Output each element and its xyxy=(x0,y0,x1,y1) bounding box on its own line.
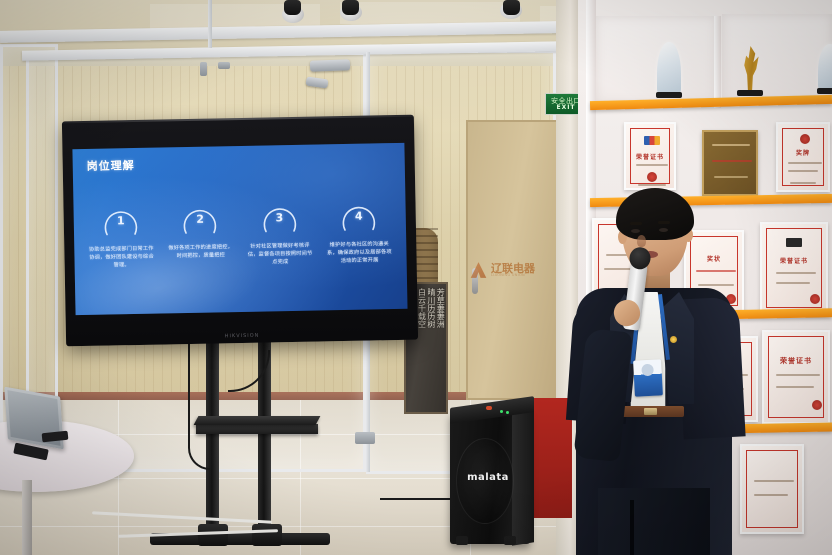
door-lock[interactable] xyxy=(218,62,230,69)
presenter-eyebrow xyxy=(658,221,670,224)
tv-screen: 岗位理解 1 协助总监完成部门日常工作协调，做好团队建设与综合管理。 xyxy=(72,143,407,315)
step-text: 维护好与各社区的沟通关系，确保政府以及居部各项活动的正常开展 xyxy=(325,240,393,265)
step-number: 4 xyxy=(355,209,363,222)
certificate-logo-icon xyxy=(644,136,660,145)
certificate-title: 奖状 xyxy=(686,254,742,263)
certificate-title: 荣誉证书 xyxy=(764,356,828,366)
portable-speaker: malata xyxy=(450,412,530,544)
step-text: 做好各项工作的进度把控，时间把控，质量把控 xyxy=(167,243,235,260)
award-plaque xyxy=(702,130,758,196)
television: 岗位理解 1 协助总监完成部门日常工作协调，做好团队建设与综合管理。 xyxy=(62,115,418,347)
trophy-base xyxy=(817,88,832,94)
step-text: 针对社区管理做好考核评估，监督各项目按照时间节点完成 xyxy=(246,242,314,267)
calligraphy-column: 晴川历历树 xyxy=(427,288,435,408)
power-cable xyxy=(188,340,210,470)
shelf-divider xyxy=(714,16,721,108)
speaker-knob[interactable] xyxy=(486,406,492,410)
step-ring-icon: 3 xyxy=(257,197,302,238)
lapel-pin-icon xyxy=(670,336,677,343)
speaker-wheel xyxy=(456,536,468,545)
calligraphy-column: 芳草萋萋洲 xyxy=(436,288,444,408)
certificate-title: 荣誉证书 xyxy=(762,256,826,265)
step-ring-icon: 4 xyxy=(336,195,381,236)
presenter-eye xyxy=(631,229,640,233)
certificate-plaque: 奖牌 xyxy=(776,122,830,192)
presenter-eye xyxy=(659,228,668,232)
crystal-trophy xyxy=(657,42,681,94)
step-ring-icon: 2 xyxy=(178,198,223,239)
step-ring-icon: 1 xyxy=(98,200,143,241)
door-closer-arm xyxy=(310,59,350,71)
certificate-plaque: 荣誉证书 xyxy=(762,330,830,424)
brand-name-en: LIAONING UNION xyxy=(491,274,535,278)
tv-stand-foot xyxy=(198,524,228,546)
table-leg xyxy=(22,480,32,555)
tv-brand-label: HIKVISION xyxy=(225,333,260,340)
certificate-title: 荣誉证书 xyxy=(626,152,674,161)
calligraphy-column: 白云千载空 xyxy=(417,288,425,408)
photo-scene: 安全出口 EXIT 辽联电器 LIAONING UNION 上年黄鹤楼 白云千载… xyxy=(0,0,832,555)
slide-step: 2 做好各项工作的进度把控，时间把控，质量把控 xyxy=(165,198,236,269)
step-number: 1 xyxy=(117,214,125,227)
belt-buckle xyxy=(644,408,657,415)
speaker-led xyxy=(500,410,503,413)
certificate-plaque xyxy=(740,444,804,534)
trophy-base xyxy=(737,90,763,96)
speaker-led xyxy=(506,411,509,414)
belt xyxy=(620,406,684,417)
id-badge xyxy=(633,359,663,396)
slide-step: 1 协助总监完成部门日常工作协调，做好团队建设与综合管理。 xyxy=(85,200,156,271)
speaker-wheel xyxy=(504,536,516,545)
step-number: 2 xyxy=(196,212,204,225)
wall-brand-logo: 辽联电器 LIAONING UNION xyxy=(470,258,552,282)
brand-mark-icon xyxy=(470,262,487,279)
exit-sign-label-en: EXIT xyxy=(556,105,575,111)
door-floor-hinge xyxy=(355,432,375,444)
slide-step: 3 针对社区管理做好考核评估，监督各项目按照时间节点完成 xyxy=(244,197,315,268)
step-text: 协助总监完成部门日常工作协调，做好团队建设与综合管理。 xyxy=(87,245,155,270)
shelf-cubby xyxy=(596,16,716,104)
presenter-trousers xyxy=(598,488,710,555)
presenter-eyebrow xyxy=(630,222,642,225)
certificate-plaque: 荣誉证书 xyxy=(760,222,828,314)
trophy-base xyxy=(656,92,682,98)
door-lock[interactable] xyxy=(200,62,207,76)
slide-steps: 1 协助总监完成部门日常工作协调，做好团队建设与综合管理。 2 做好各项工作的进… xyxy=(85,195,394,270)
step-number: 3 xyxy=(275,211,283,224)
tv-stand-foot xyxy=(252,524,282,546)
certificate-title: 奖牌 xyxy=(778,148,828,157)
presenter-nose xyxy=(637,235,646,247)
badge-photo xyxy=(641,364,654,377)
certificate-logo-icon xyxy=(786,238,802,247)
slide-step: 4 维护好与各社区的沟通关系，确保政府以及居部各项活动的正常开展 xyxy=(323,195,394,266)
certificate-plaque: 荣誉证书 xyxy=(624,122,676,190)
slide-title: 岗位理解 xyxy=(87,157,135,174)
tv-stand-shelf-edge xyxy=(194,416,321,425)
door-mullion xyxy=(208,0,212,48)
speaker-brand-label: malata xyxy=(460,472,516,483)
tv-stand-shelf xyxy=(196,424,318,434)
